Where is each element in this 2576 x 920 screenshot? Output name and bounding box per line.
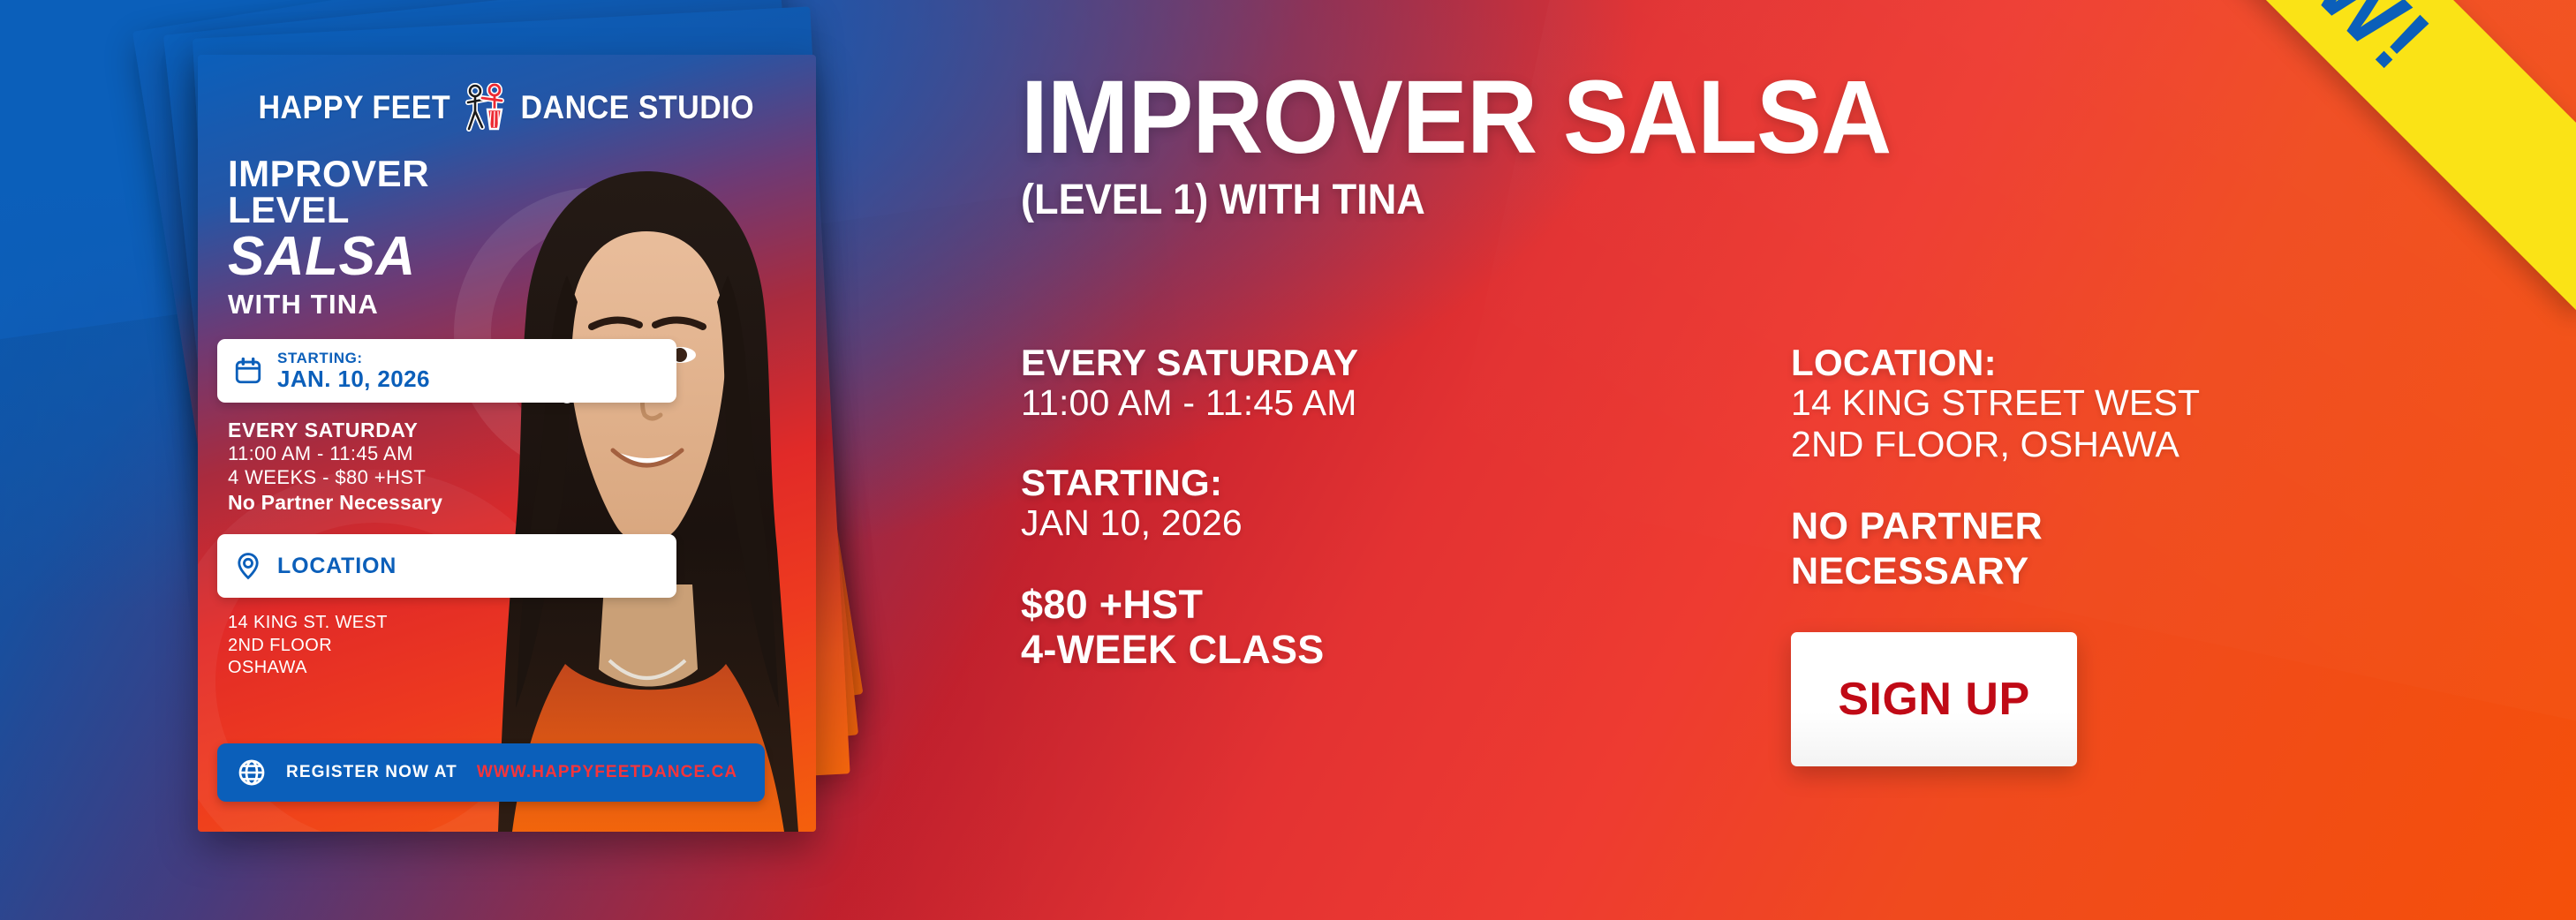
logo-word-dancestudio: DANCE STUDIO bbox=[520, 89, 754, 126]
flyer-schedule-block: EVERY SATURDAY 11:00 AM - 11:45 AM 4 WEE… bbox=[198, 403, 816, 515]
sign-up-button[interactable]: SIGN UP bbox=[1791, 632, 2077, 766]
no-partner-group: NO PARTNER NECESSARY bbox=[1791, 504, 2497, 593]
flyer-starting-chip[interactable]: STARTING: JAN. 10, 2026 bbox=[217, 339, 676, 403]
sign-up-label: SIGN UP bbox=[1838, 673, 2029, 726]
price-amount: $80 +HST bbox=[1021, 583, 1727, 627]
studio-logo: HAPPY FEET bbox=[198, 83, 816, 132]
globe-icon bbox=[237, 758, 267, 788]
price-duration: 4-WEEK CLASS bbox=[1021, 628, 1727, 672]
flyer-address-line-2: 2ND FLOOR bbox=[228, 635, 816, 658]
flyer-schedule-heading: EVERY SATURDAY bbox=[228, 419, 816, 442]
no-partner-line-2: NECESSARY bbox=[1791, 549, 2497, 594]
promo-banner: HAPPY FEET bbox=[0, 0, 2576, 920]
starting-heading: STARTING: bbox=[1021, 463, 1727, 502]
details-column-left: EVERY SATURDAY 11:00 AM - 11:45 AM START… bbox=[1021, 343, 1727, 711]
flyer-address-line-3: OSHAWA bbox=[228, 657, 816, 680]
flyer-title-with-tina: WITH TINA bbox=[228, 290, 816, 320]
flyer-schedule-time: 11:00 AM - 11:45 AM bbox=[228, 442, 816, 466]
flyer-card[interactable]: HAPPY FEET bbox=[198, 55, 816, 832]
schedule-time: 11:00 AM - 11:45 AM bbox=[1021, 382, 1727, 424]
flyer-schedule-weeks-price: 4 WEEKS - $80 +HST bbox=[228, 466, 816, 490]
price-group: $80 +HST 4-WEEK CLASS bbox=[1021, 583, 1727, 672]
logo-word-happyfeet: HAPPY FEET bbox=[258, 89, 450, 126]
flyer-register-url[interactable]: WWW.HAPPYFEETDANCE.CA bbox=[477, 763, 737, 782]
flyer-address-line-1: 14 KING ST. WEST bbox=[228, 612, 816, 635]
page-title: IMPROVER SALSA bbox=[1021, 69, 1891, 167]
flyer-starting-label: STARTING: bbox=[277, 350, 430, 367]
flyer-address-block: 14 KING ST. WEST 2ND FLOOR OSHAWA bbox=[198, 598, 816, 680]
location-heading: LOCATION: bbox=[1791, 343, 2497, 382]
banner-content: IMPROVER SALSA (LEVEL 1) WITH TINA EVERY… bbox=[1014, 0, 2533, 920]
no-partner-line-1: NO PARTNER bbox=[1791, 504, 2497, 549]
flyer-title-salsa: SALSA bbox=[228, 230, 816, 284]
location-group: LOCATION: 14 KING STREET WEST 2ND FLOOR,… bbox=[1791, 343, 2497, 465]
dancing-couple-icon bbox=[461, 83, 509, 132]
page-subtitle: (LEVEL 1) WITH TINA bbox=[1021, 179, 1425, 222]
location-line-2: 2ND FLOOR, OSHAWA bbox=[1791, 424, 2497, 465]
flyer-location-label: LOCATION bbox=[277, 554, 397, 579]
map-pin-icon bbox=[233, 551, 263, 581]
flyer-register-text: REGISTER NOW AT bbox=[286, 763, 457, 782]
flyer-schedule-no-partner: No Partner Necessary bbox=[228, 491, 816, 515]
location-line-1: 14 KING STREET WEST bbox=[1791, 382, 2497, 424]
flyer-register-bar[interactable]: REGISTER NOW AT WWW.HAPPYFEETDANCE.CA bbox=[217, 743, 765, 802]
details-column-right: LOCATION: 14 KING STREET WEST 2ND FLOOR,… bbox=[1791, 343, 2497, 766]
flyer-starting-date: JAN. 10, 2026 bbox=[277, 366, 430, 393]
flyer-title-level: LEVEL bbox=[228, 192, 816, 228]
flyer-title-improver: IMPROVER bbox=[228, 155, 816, 192]
schedule-heading: EVERY SATURDAY bbox=[1021, 343, 1727, 382]
schedule-group: EVERY SATURDAY 11:00 AM - 11:45 AM bbox=[1021, 343, 1727, 424]
starting-group: STARTING: JAN 10, 2026 bbox=[1021, 463, 1727, 544]
calendar-icon bbox=[233, 356, 263, 386]
flyer-location-chip[interactable]: LOCATION bbox=[217, 534, 676, 598]
starting-date: JAN 10, 2026 bbox=[1021, 502, 1727, 544]
flyer-title-block: IMPROVER LEVEL SALSA WITH TINA bbox=[198, 132, 816, 320]
